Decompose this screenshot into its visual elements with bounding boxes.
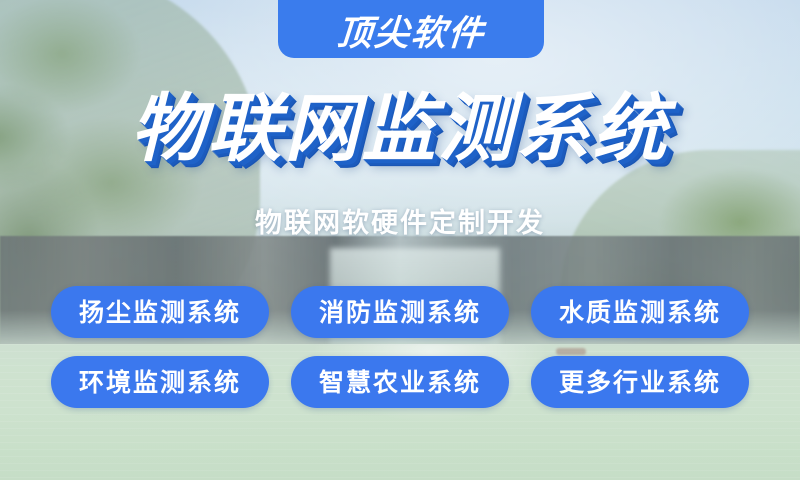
page-subtitle: 物联网软硬件定制开发: [0, 208, 800, 240]
category-pill-groups: 扬尘监测系统 消防监测系统 水质监测系统 环境监测系统 智慧农业系统 更多行业系…: [0, 286, 800, 426]
brand-badge-label: 顶尖软件: [336, 17, 486, 52]
category-pill-row-1: 扬尘监测系统 消防监测系统 水质监测系统: [0, 286, 800, 338]
pill-label: 水质监测系统: [559, 300, 721, 325]
pill-label: 更多行业系统: [559, 370, 721, 395]
pill-fire-monitoring[interactable]: 消防监测系统: [291, 286, 509, 338]
pill-label: 消防监测系统: [319, 300, 481, 325]
category-pill-row-2: 环境监测系统 智慧农业系统 更多行业系统: [0, 356, 800, 408]
pill-dust-monitoring[interactable]: 扬尘监测系统: [51, 286, 269, 338]
banner-content: 顶尖软件 物联网监测系统 物联网软硬件定制开发 扬尘监测系统 消防监测系统 水质…: [0, 0, 800, 480]
pill-label: 扬尘监测系统: [79, 300, 241, 325]
pill-more-industries[interactable]: 更多行业系统: [531, 356, 749, 408]
page-title: 物联网监测系统: [0, 92, 800, 166]
pill-smart-agriculture[interactable]: 智慧农业系统: [291, 356, 509, 408]
pill-label: 环境监测系统: [79, 370, 241, 395]
brand-badge: 顶尖软件: [278, 0, 544, 58]
pill-environment-monitoring[interactable]: 环境监测系统: [51, 356, 269, 408]
promo-banner: 顶尖软件 物联网监测系统 物联网软硬件定制开发 扬尘监测系统 消防监测系统 水质…: [0, 0, 800, 480]
pill-water-quality-monitoring[interactable]: 水质监测系统: [531, 286, 749, 338]
pill-label: 智慧农业系统: [319, 370, 481, 395]
